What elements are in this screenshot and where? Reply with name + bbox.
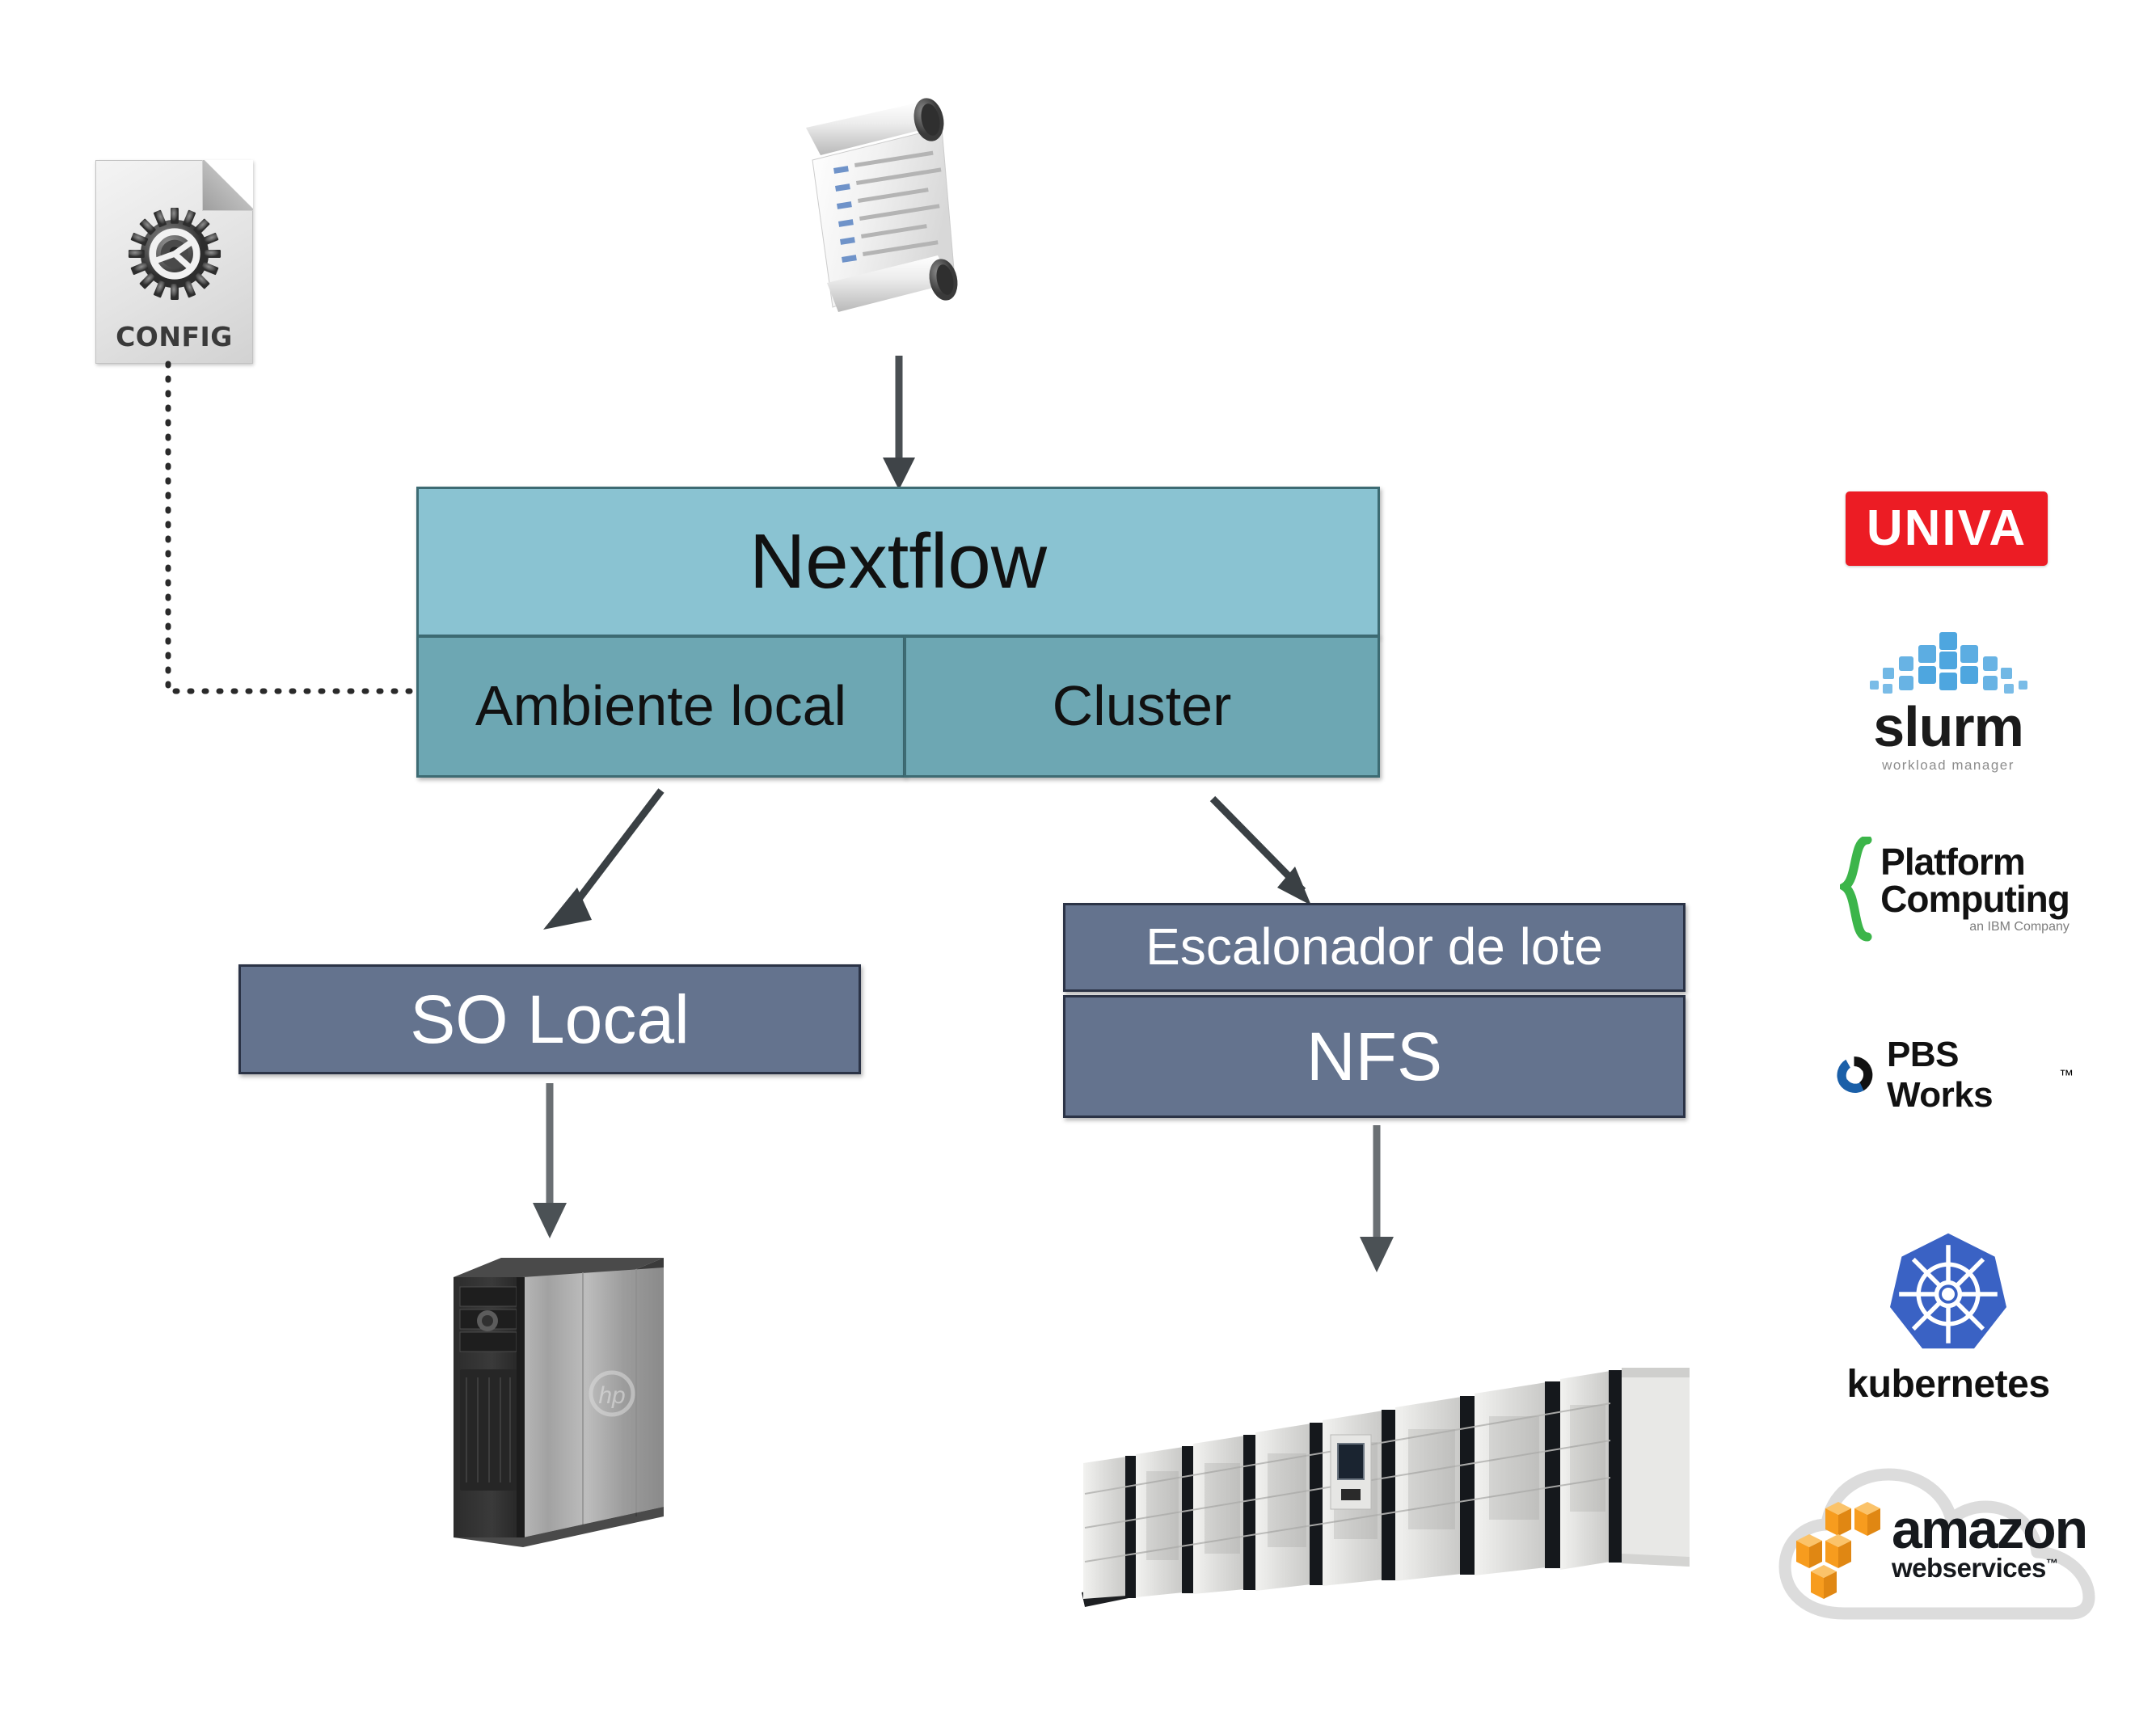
edge-ambiente-to-solocal <box>501 768 776 962</box>
kubernetes-label: kubernetes <box>1846 1362 2049 1407</box>
kubernetes-helm-icon <box>1884 1229 2013 1359</box>
diagram-canvas: CONFIG <box>0 0 2156 1725</box>
edge-nfs-to-serverrack <box>1348 1125 1413 1279</box>
svg-text:hp: hp <box>598 1382 625 1409</box>
cluster-box[interactable]: Cluster <box>904 635 1380 778</box>
script-scroll-icon <box>788 95 998 354</box>
logo-platform-computing: Platform Computing an IBM Company <box>1825 825 2084 954</box>
pbs-trademark-icon: ™ <box>2059 1067 2074 1084</box>
nextflow-box[interactable]: Nextflow <box>416 487 1380 637</box>
edge-script-to-nextflow <box>871 356 936 497</box>
platform-label-1: Platform <box>1880 844 2070 880</box>
aws-cubes-icon <box>1788 1499 1893 1604</box>
slurm-tagline: workload manager <box>1882 757 2015 774</box>
logo-pbs-works: PBS Works ™ <box>1831 1043 2074 1107</box>
logo-kubernetes: kubernetes <box>1859 1221 2037 1415</box>
webservices-text: webservices <box>1892 1553 2046 1583</box>
slurm-dots-icon <box>1855 631 2041 698</box>
platform-tagline: an IBM Company <box>1880 920 2070 934</box>
gear-icon <box>124 204 225 304</box>
config-file-icon: CONFIG <box>95 160 253 364</box>
green-bracket-icon <box>1840 837 1875 942</box>
webservices-label: webservices™ <box>1892 1554 2086 1581</box>
edge-solocal-to-workstation <box>521 1083 586 1245</box>
univa-plate: UNIVA <box>1846 491 2048 566</box>
server-rack-icon <box>1075 1269 1698 1673</box>
univa-label: UNIVA <box>1867 504 2027 554</box>
pbs-swirl-icon <box>1831 1050 1877 1100</box>
pbs-works-label: PBS Works <box>1887 1035 2059 1116</box>
logo-univa: UNIVA <box>1846 491 2048 566</box>
desktop-workstation-icon: hp <box>424 1240 675 1579</box>
slurm-label: slurm <box>1873 698 2023 755</box>
scroll-shape <box>788 95 998 354</box>
platform-label-2: Computing <box>1880 881 2070 917</box>
config-file-label: CONFIG <box>95 321 253 352</box>
workstation-shape: hp <box>424 1240 675 1579</box>
nfs-box[interactable]: NFS <box>1063 995 1686 1118</box>
so-local-box[interactable]: SO Local <box>238 964 861 1074</box>
escalonador-de-lote-box[interactable]: Escalonador de lote <box>1063 903 1686 992</box>
server-rack-shape <box>1075 1269 1698 1673</box>
ambiente-local-box[interactable]: Ambiente local <box>416 635 905 778</box>
logo-amazon-web-services: amazon webservices™ <box>1770 1463 2110 1641</box>
aws-trademark-icon: ™ <box>2046 1557 2058 1571</box>
amazon-label: amazon <box>1892 1505 2086 1554</box>
logo-slurm: slurm workload manager <box>1831 621 2065 782</box>
